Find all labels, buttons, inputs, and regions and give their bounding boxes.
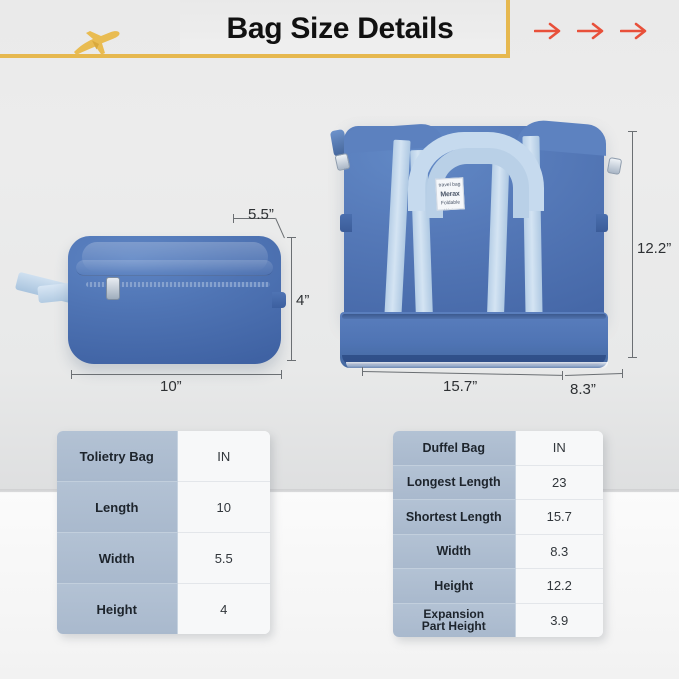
toiletry-table-header-unit: IN xyxy=(178,431,271,482)
duffel-row-1-value: 15.7 xyxy=(516,500,604,535)
brand-tag-mid-line: Foldable xyxy=(441,199,460,206)
duffel-bag-brand-tag: travel bag Merax Foldable Water Resistan… xyxy=(435,177,465,210)
duffel-bag-image: travel bag Merax Foldable Water Resistan… xyxy=(330,126,618,366)
table-row: Width 8.3 xyxy=(393,535,603,570)
table-row: Height 4 xyxy=(57,584,270,634)
toiletry-bag-zipper-pull-icon xyxy=(106,277,120,300)
toiletry-bag-image xyxy=(68,236,281,364)
arrow-group xyxy=(534,18,664,44)
duffel-bag-expansion-seam xyxy=(342,314,606,319)
toiletry-row-1-label: Width xyxy=(57,533,178,584)
duffel-depth-tick-right xyxy=(622,369,623,378)
toiletry-row-2-value: 4 xyxy=(178,584,271,634)
arrow-right-icon xyxy=(577,20,607,42)
toiletry-bag-side-tab xyxy=(272,292,286,308)
duffel-row-0-label: Longest Length xyxy=(393,466,516,501)
duffel-row-1-label: Shortest Length xyxy=(393,500,516,535)
toiletry-table-header-label: Tolietry Bag xyxy=(57,431,178,482)
duffel-width-label: 15.7” xyxy=(443,378,477,395)
toiletry-row-0-label: Length xyxy=(57,482,178,533)
duffel-row-2-value: 8.3 xyxy=(516,535,604,570)
page-title: Bag Size Details xyxy=(190,8,490,50)
toiletry-width-dim-line xyxy=(71,374,281,375)
table-row: Width 5.5 xyxy=(57,533,270,584)
toiletry-height-tick-bottom xyxy=(287,360,296,361)
toiletry-width-tick-right xyxy=(281,370,282,379)
duffel-row-2-label: Width xyxy=(393,535,516,570)
airplane-takeoff-icon xyxy=(66,24,124,58)
duffel-depth-label: 8.3” xyxy=(570,381,596,398)
duffel-table-header-unit: IN xyxy=(516,431,604,466)
duffel-height-label: 12.2” xyxy=(637,240,671,257)
header-gold-corner xyxy=(506,0,510,58)
duffel-width-tick-left xyxy=(362,367,363,376)
toiletry-row-0-value: 10 xyxy=(178,482,271,533)
duffel-height-tick-top xyxy=(628,131,637,132)
arrow-right-icon xyxy=(620,20,650,42)
table-row: Length 10 xyxy=(57,482,270,533)
duffel-bag-right-zipper-pull-icon xyxy=(607,157,623,175)
duffel-table-header-label: Duffel Bag xyxy=(393,431,516,466)
toiletry-row-2-label: Height xyxy=(57,584,178,634)
duffel-bag-right-buckle xyxy=(596,214,608,232)
toiletry-depth-label: 5.5” xyxy=(248,206,274,223)
toiletry-width-tick-left xyxy=(71,370,72,379)
table-row: Height 12.2 xyxy=(393,569,603,604)
duffel-bag-spec-table: Duffel Bag IN Longest Length 23 Shortest… xyxy=(393,431,603,637)
table-row: Longest Length 23 xyxy=(393,466,603,501)
duffel-row-4-value: 3.9 xyxy=(516,604,604,638)
toiletry-depth-tick-start xyxy=(233,214,234,223)
arrow-right-icon xyxy=(534,20,564,42)
duffel-height-dim-line xyxy=(632,131,633,357)
table-row: ExpansionPart Height 3.9 xyxy=(393,604,603,638)
toiletry-bag-top-seam xyxy=(76,260,273,276)
infographic-page: Bag Size Details 5.5” 4” 1 xyxy=(0,0,679,679)
toiletry-bag-spec-table: Tolietry Bag IN Length 10 Width 5.5 Heig… xyxy=(57,431,270,634)
duffel-row-3-label: Height xyxy=(393,569,516,604)
duffel-height-tick-bottom xyxy=(628,357,637,358)
duffel-row-0-value: 23 xyxy=(516,466,604,501)
toiletry-height-label: 4” xyxy=(296,292,309,309)
toiletry-height-tick-top xyxy=(287,237,296,238)
table-row: Shortest Length 15.7 xyxy=(393,500,603,535)
duffel-row-4-label: ExpansionPart Height xyxy=(393,604,516,638)
duffel-bag-base-shadow xyxy=(346,362,608,370)
table-row: Tolietry Bag IN xyxy=(57,431,270,482)
toiletry-width-label: 10” xyxy=(160,378,182,395)
duffel-row-4-label-line2: Part Height xyxy=(422,619,486,633)
toiletry-height-dim-line xyxy=(291,237,292,360)
table-row: Duffel Bag IN xyxy=(393,431,603,466)
duffel-width-tick-right xyxy=(562,371,563,380)
brand-tag-top-line: travel bag xyxy=(438,181,460,188)
toiletry-row-1-value: 5.5 xyxy=(178,533,271,584)
duffel-bag-left-buckle xyxy=(340,214,352,232)
duffel-row-3-value: 12.2 xyxy=(516,569,604,604)
